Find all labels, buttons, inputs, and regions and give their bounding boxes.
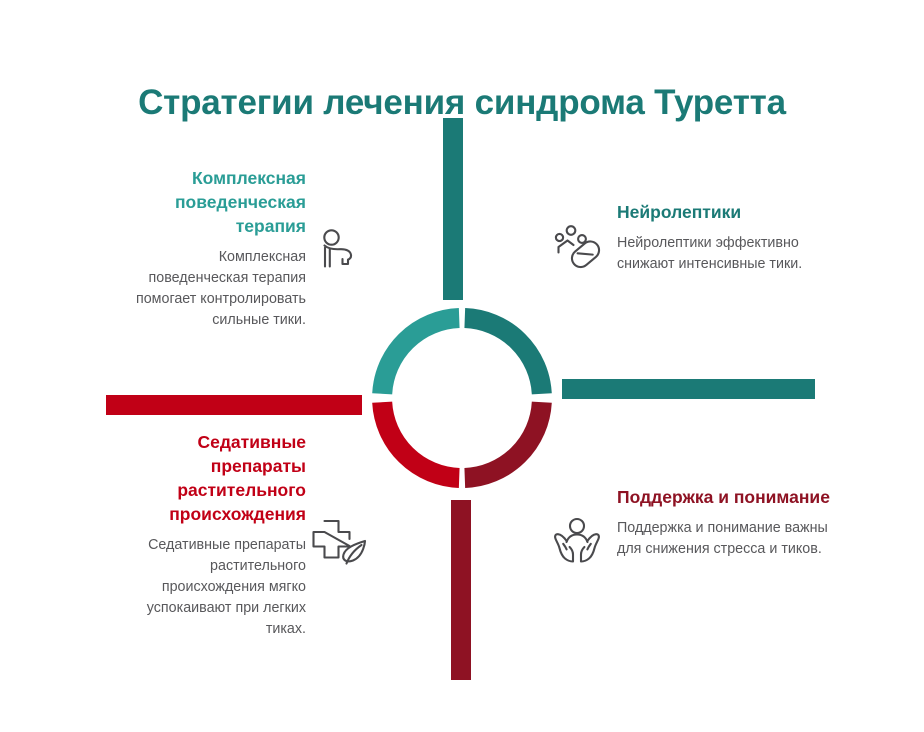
connector-stem-bottom bbox=[451, 500, 471, 680]
connector-stem-left bbox=[106, 395, 362, 415]
quadrant-neuroleptics: Нейролептики Нейролептики эффективно сни… bbox=[617, 200, 817, 275]
quadrant-heading: Комплексная поведенческая терапия bbox=[124, 166, 306, 238]
connector-stem-top bbox=[443, 118, 463, 300]
person-head-icon bbox=[312, 226, 358, 272]
pills-capsule-icon bbox=[552, 223, 602, 271]
page-title: Стратегии лечения синдрома Туретта bbox=[0, 81, 924, 125]
quadrant-support-understanding: Поддержка и понимание Поддержка и понима… bbox=[617, 485, 833, 560]
ring-arc-top-left bbox=[382, 318, 459, 394]
quadrant-body: Комплексная поведенческая терапия помога… bbox=[124, 247, 306, 331]
medical-cross-leaf-icon bbox=[308, 516, 370, 568]
supporting-hands-icon bbox=[552, 516, 602, 564]
quadrant-herbal-sedatives: Седативные препараты растительного проис… bbox=[112, 430, 306, 640]
quadrant-body: Поддержка и понимание важны для снижения… bbox=[617, 518, 833, 560]
quadrant-heading: Седативные препараты растительного проис… bbox=[112, 430, 306, 526]
quadrant-body: Нейролептики эффективно снижают интенсив… bbox=[617, 233, 817, 275]
ring-arc-bottom-right bbox=[465, 402, 542, 478]
ring-arc-bottom-left bbox=[382, 402, 459, 478]
infographic-canvas: Стратегии лечения синдрома Туретта Компл… bbox=[0, 0, 924, 732]
quadrant-heading: Нейролептики bbox=[617, 200, 817, 224]
quadrant-body: Седативные препараты растительного проис… bbox=[112, 535, 306, 640]
quadrant-behavioral-therapy: Комплексная поведенческая терапия Компле… bbox=[124, 166, 306, 331]
connector-stem-right bbox=[562, 379, 815, 399]
quadrant-heading: Поддержка и понимание bbox=[617, 485, 833, 509]
ring-arc-top-right bbox=[465, 318, 542, 394]
